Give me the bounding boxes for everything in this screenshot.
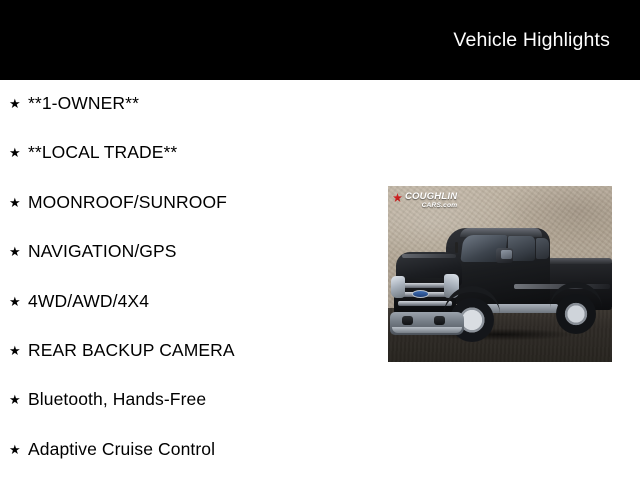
list-item: ★ Adaptive Cruise Control bbox=[0, 439, 380, 480]
dealer-logo-icon bbox=[393, 193, 402, 202]
page-header: Vehicle Highlights bbox=[0, 0, 640, 80]
star-bullet-icon: ★ bbox=[9, 291, 28, 312]
star-bullet-icon: ★ bbox=[9, 389, 28, 410]
list-item: ★ 4WD/AWD/4X4 bbox=[0, 291, 380, 340]
list-item: ★ **LOCAL TRADE** bbox=[0, 142, 380, 191]
highlights-list: ★ **1-OWNER** ★ **LOCAL TRADE** ★ MOONRO… bbox=[0, 80, 380, 480]
list-item: ★ REAR BACKUP CAMERA bbox=[0, 340, 380, 389]
vehicle-photo: COUGHLIN CARS.com bbox=[388, 186, 612, 362]
dealer-suffix-label: CARS.com bbox=[405, 203, 457, 210]
list-item: ★ Bluetooth, Hands-Free bbox=[0, 389, 380, 438]
highlight-label: 4WD/AWD/4X4 bbox=[28, 291, 149, 312]
highlight-label: REAR BACKUP CAMERA bbox=[28, 340, 235, 361]
dealer-watermark: COUGHLIN CARS.com bbox=[393, 192, 457, 209]
page-title: Vehicle Highlights bbox=[453, 29, 640, 52]
highlight-label: **LOCAL TRADE** bbox=[28, 142, 177, 163]
star-bullet-icon: ★ bbox=[9, 142, 28, 163]
star-bullet-icon: ★ bbox=[9, 241, 28, 262]
vehicle-highlights-page: Vehicle Highlights ★ **1-OWNER** ★ **LOC… bbox=[0, 0, 640, 480]
highlight-label: Adaptive Cruise Control bbox=[28, 439, 215, 460]
dealer-brand-label: COUGHLIN bbox=[405, 192, 457, 202]
truck-illustration bbox=[388, 186, 612, 362]
list-item: ★ NAVIGATION/GPS bbox=[0, 241, 380, 290]
list-item: ★ **1-OWNER** bbox=[0, 93, 380, 142]
highlight-label: **1-OWNER** bbox=[28, 93, 139, 114]
highlight-label: MOONROOF/SUNROOF bbox=[28, 192, 227, 213]
highlight-label: Bluetooth, Hands-Free bbox=[28, 389, 206, 410]
dealer-watermark-text: COUGHLIN CARS.com bbox=[405, 192, 457, 209]
list-item: ★ MOONROOF/SUNROOF bbox=[0, 192, 380, 241]
star-bullet-icon: ★ bbox=[9, 192, 28, 213]
star-bullet-icon: ★ bbox=[9, 439, 28, 460]
star-bullet-icon: ★ bbox=[9, 93, 28, 114]
highlight-label: NAVIGATION/GPS bbox=[28, 241, 177, 262]
star-bullet-icon: ★ bbox=[9, 340, 28, 361]
